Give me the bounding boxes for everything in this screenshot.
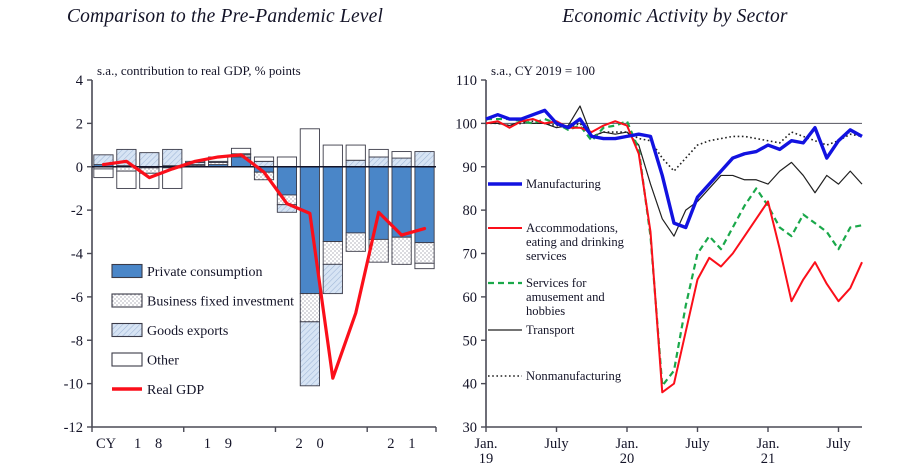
left-x-label: 2 [387, 436, 394, 452]
left-bar-segment [323, 145, 342, 167]
left-bar-segment [392, 152, 411, 159]
left-y-tick-label: -8 [71, 333, 83, 349]
right-y-tick-label: 90 [463, 160, 478, 176]
left-legend-label: Other [147, 354, 179, 369]
left-x-label: 1 [204, 436, 211, 452]
left-y-tick-label: -2 [71, 203, 83, 219]
left-x-label: 2 [295, 436, 302, 452]
right-y-tick-label: 30 [463, 420, 478, 436]
left-legend-label: Business fixed investment [147, 295, 294, 310]
left-x-label: 9 [225, 436, 232, 452]
right-x-label-top: Jan. [475, 436, 498, 452]
right-legend-label: eating and drinking [526, 235, 625, 249]
left-bar-segment [94, 169, 113, 178]
right-y-tick-label: 110 [456, 73, 477, 89]
left-y-tick-label: -4 [71, 247, 84, 263]
right-chart-svg: s.a., CY 2019 = 10011010090807060504030J… [450, 0, 900, 475]
left-bar-segment [369, 167, 388, 240]
right-legend-label: Accommodations, [526, 221, 618, 235]
right-unit-note: s.a., CY 2019 = 100 [491, 63, 595, 78]
right-x-label-top: July [544, 436, 569, 452]
left-legend-swatch [112, 265, 142, 278]
left-x-label: 1 [134, 436, 141, 452]
left-legend-swatch [112, 353, 142, 366]
left-bar-segment [346, 160, 365, 167]
right-legend-label: Manufacturing [526, 177, 602, 191]
left-x-label: 1 [408, 436, 415, 452]
left-y-tick-label: -10 [64, 377, 83, 393]
left-bar-segment [300, 129, 319, 167]
left-bar-segment [231, 148, 250, 153]
left-bar-segment [140, 153, 159, 167]
left-bar-segment [415, 152, 434, 167]
left-legend-label: Real GDP [147, 383, 204, 398]
right-x-label-top: Jan. [757, 436, 780, 452]
left-y-tick-label: 0 [76, 160, 83, 176]
right-legend-label: Transport [526, 323, 575, 337]
left-bar-segment [415, 243, 434, 264]
left-unit-note: s.a., contribution to real GDP, % points [97, 63, 301, 78]
right-x-label-bottom: 19 [479, 451, 494, 467]
right-x-label-top: July [826, 436, 851, 452]
left-bar-segment [277, 167, 296, 195]
left-bar-segment [369, 149, 388, 157]
left-bar-segment [392, 158, 411, 167]
right-legend-label: Services for [526, 276, 587, 290]
left-y-tick-label: -6 [71, 290, 83, 306]
right-x-label-top: Jan. [616, 436, 639, 452]
left-bar-segment [254, 157, 273, 161]
right-legend-label: hobbies [526, 304, 565, 318]
left-y-tick-label: 4 [76, 73, 84, 89]
left-bar-segment [300, 167, 319, 294]
right-x-label-bottom: 20 [620, 451, 635, 467]
right-x-label-bottom: 21 [761, 451, 776, 467]
left-bar-segment [163, 149, 182, 165]
right-x-label-top: July [685, 436, 710, 452]
left-bar-segment [323, 167, 342, 242]
right-y-tick-label: 100 [455, 116, 477, 132]
right-series-line [486, 121, 862, 171]
right-chart-panel: Economic Activity by Sector s.a., CY 201… [450, 0, 900, 475]
left-x-label: 8 [155, 436, 162, 452]
left-y-tick-label: -12 [64, 420, 83, 436]
right-y-tick-label: 60 [463, 290, 478, 306]
left-bar-segment [369, 157, 388, 167]
left-legend-label: Private consumption [147, 265, 263, 280]
left-bar-segment [300, 294, 319, 322]
right-y-tick-label: 40 [463, 377, 478, 393]
left-legend-swatch [112, 324, 142, 337]
right-legend-label: services [526, 249, 567, 263]
left-bar-segment [300, 322, 319, 386]
right-y-tick-label: 80 [463, 203, 478, 219]
left-bar-segment [277, 157, 296, 167]
left-bar-segment [346, 233, 365, 251]
left-legend-swatch [112, 294, 142, 307]
left-bar-segment [392, 237, 411, 264]
left-x-label: 0 [316, 436, 323, 452]
left-legend-label: Goods exports [147, 324, 228, 339]
right-legend-label: Nonmanufacturing [526, 369, 622, 383]
right-y-tick-label: 70 [463, 247, 478, 263]
right-y-tick-label: 50 [463, 333, 478, 349]
left-bar-segment [323, 264, 342, 293]
left-chart-svg: s.a., contribution to real GDP, % points… [0, 0, 450, 475]
left-y-tick-label: 2 [76, 116, 83, 132]
right-series-line [486, 110, 862, 227]
left-bar-segment [415, 263, 434, 268]
left-bar-segment [346, 167, 365, 233]
right-legend-label: amusement and [526, 290, 605, 304]
left-x-label: CY [96, 436, 117, 452]
left-bar-segment [323, 242, 342, 265]
left-chart-panel: Comparison to the Pre-Pandemic Level s.a… [0, 0, 450, 475]
left-bar-segment [346, 145, 365, 160]
left-bar-segment [117, 171, 136, 188]
